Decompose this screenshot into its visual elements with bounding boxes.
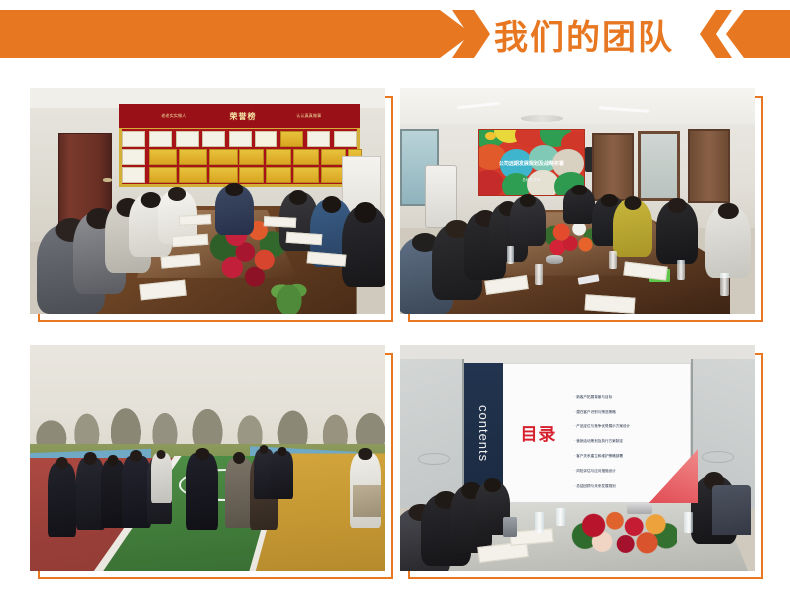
wall-logo-right-icon bbox=[702, 451, 734, 462]
slide-subtitle-photo-2: 总经理 李明 bbox=[503, 176, 560, 183]
honor-board-right-motto: 认认真真做事 bbox=[282, 109, 335, 121]
slide-bullet: 客户关系建立和维护策略部署 bbox=[574, 455, 691, 459]
person bbox=[342, 206, 385, 287]
person bbox=[48, 463, 76, 538]
person bbox=[215, 185, 254, 235]
honor-board-title: 荣誉榜 bbox=[215, 105, 272, 128]
photo-4-image: contents 目录 新客户拓展背景与目标 潜在客户识别与筛选策略 产品定位与… bbox=[400, 345, 755, 571]
photo-1-image: 老老实实做人 荣誉榜 认认真真做事 bbox=[30, 88, 385, 314]
person bbox=[186, 453, 218, 530]
person bbox=[563, 187, 595, 223]
wall-logo-left-icon bbox=[418, 453, 450, 464]
slide-sidebar-label: contents bbox=[464, 363, 503, 503]
slide-bullet: 产品定位与竞争优势展示方案设计 bbox=[574, 425, 691, 429]
person bbox=[656, 201, 699, 264]
photo-3-image bbox=[30, 345, 385, 571]
honor-board-left-motto: 老老实实做人 bbox=[147, 109, 200, 121]
person bbox=[510, 196, 546, 246]
gallery-item-photo-4[interactable]: contents 目录 新客户拓展背景与目标 潜在客户识别与筛选策略 产品定位与… bbox=[400, 345, 771, 587]
slide-bullet: 潜在客户识别与筛选策略 bbox=[574, 411, 691, 415]
person bbox=[151, 453, 172, 503]
gallery-item-photo-2[interactable]: 公司远期发展规划及战略布署 总经理 李明 bbox=[400, 88, 771, 330]
person bbox=[705, 206, 751, 278]
slide-heading-photo-4: 目录 bbox=[510, 417, 567, 446]
photo-2-image: 公司远期发展规划及战略布署 总经理 李明 bbox=[400, 88, 755, 314]
person bbox=[271, 451, 292, 498]
person bbox=[613, 199, 652, 258]
slide-bullet: 风险评估与应对措施设计 bbox=[574, 470, 691, 474]
slide-bullet: 营销活动策划及执行方案制定 bbox=[574, 440, 691, 444]
team-photo-gallery: 老老实实做人 荣誉榜 认认真真做事 bbox=[0, 0, 790, 589]
gallery-item-photo-1[interactable]: 老老实实做人 荣誉榜 认认真真做事 bbox=[30, 88, 401, 330]
slide-title-photo-2: 公司远期发展规划及战略布署 bbox=[482, 158, 581, 168]
slide-bullet-list: 新客户拓展背景与目标 潜在客户识别与筛选策略 产品定位与竞争优势展示方案设计 营… bbox=[574, 395, 691, 490]
slide-bullet: 总结回顾与未来发展规划 bbox=[574, 485, 691, 489]
slide-bullet: 新客户拓展背景与目标 bbox=[574, 396, 691, 400]
gallery-item-photo-3[interactable] bbox=[30, 345, 401, 587]
